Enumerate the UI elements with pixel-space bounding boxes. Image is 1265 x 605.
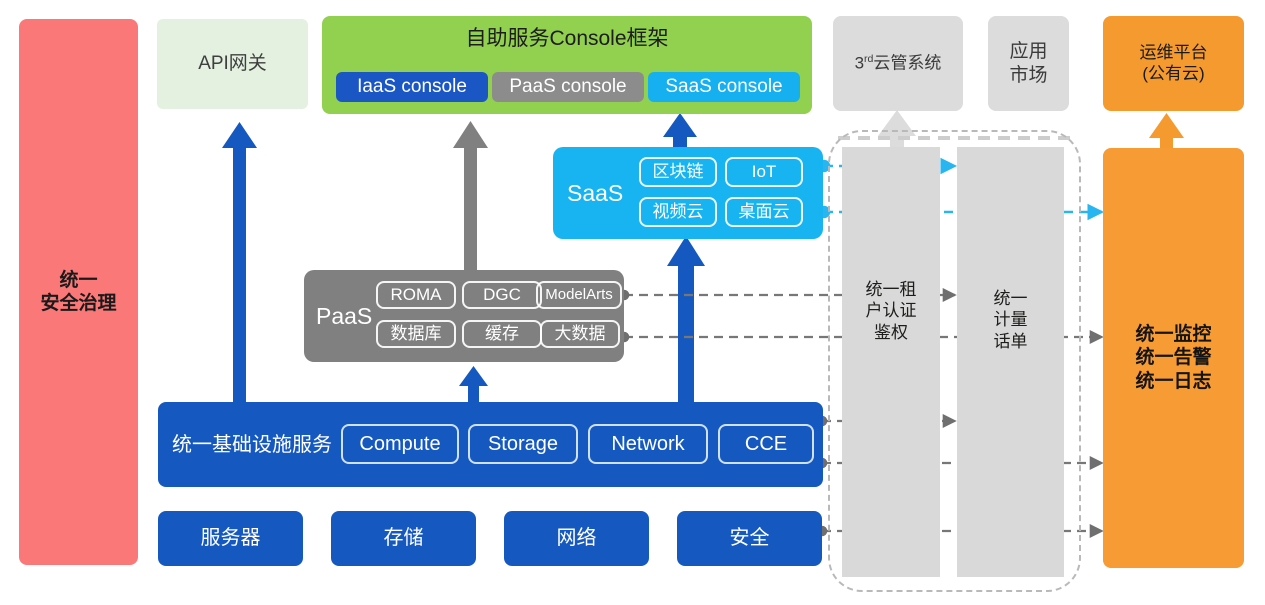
- hardware-server-label: 服务器: [201, 526, 261, 550]
- third-party-cloud-mgmt-label: 3rd云管系统: [855, 53, 942, 74]
- arrow-up-to-ops-platform: [1149, 113, 1184, 150]
- metering-line3: 话单: [957, 331, 1064, 352]
- api-gateway-box[interactable]: API网关: [157, 19, 308, 109]
- ops-platform-line1: 运维平台: [1140, 43, 1208, 64]
- console-frame-title: 自助服务Console框架: [322, 26, 812, 52]
- paas-service-dgc[interactable]: DGC: [462, 281, 542, 309]
- infra-service-cce[interactable]: CCE: [718, 424, 814, 464]
- security-governance-line2: 安全治理: [40, 292, 116, 315]
- third-party-cloud-mgmt-box[interactable]: 3rd云管系统: [833, 16, 963, 111]
- paas-service-roma-label: ROMA: [391, 285, 442, 306]
- hardware-network-box[interactable]: 网络: [504, 511, 649, 566]
- saas-service-desktop-cloud-label: 桌面云: [739, 202, 790, 223]
- paas-console-button[interactable]: PaaS console: [492, 72, 644, 102]
- saas-service-desktop-cloud[interactable]: 桌面云: [725, 197, 803, 227]
- metering-line1: 统一: [957, 288, 1064, 309]
- iaas-console-button[interactable]: IaaS console: [336, 72, 488, 102]
- infra-service-compute[interactable]: Compute: [341, 424, 459, 464]
- unified-infrastructure-label: 统一基础设施服务: [172, 433, 332, 457]
- saas-service-iot-label: IoT: [752, 162, 777, 183]
- paas-service-bigdata[interactable]: 大数据: [540, 320, 620, 348]
- infra-service-compute-label: Compute: [359, 432, 440, 456]
- infra-service-storage-label: Storage: [488, 432, 558, 456]
- arrow-infra-to-apigw: [222, 122, 257, 405]
- ops-platform-box[interactable]: 运维平台 (公有云): [1103, 16, 1244, 111]
- infra-service-network-label: Network: [611, 432, 684, 456]
- unified-infrastructure-bar: 统一基础设施服务 Compute Storage Network CCE: [158, 402, 823, 487]
- architecture-diagram: 统一 安全治理 API网关 自助服务Console框架 IaaS console…: [0, 0, 1265, 605]
- app-market-line1: 应用: [1009, 40, 1047, 63]
- paas-service-database-label: 数据库: [391, 324, 442, 345]
- saas-service-iot[interactable]: IoT: [725, 157, 803, 187]
- hardware-network-label: 网络: [557, 526, 597, 550]
- monitoring-line2: 统一告警: [1135, 346, 1211, 369]
- hardware-security-label: 安全: [730, 526, 770, 550]
- saas-service-video-cloud[interactable]: 视频云: [639, 197, 717, 227]
- paas-service-cache[interactable]: 缓存: [462, 320, 542, 348]
- tenant-auth-line2: 户认证: [842, 300, 940, 321]
- paas-layer-label: PaaS: [316, 302, 372, 330]
- arrow-infra-to-saas: [667, 236, 705, 406]
- iaas-console-label: IaaS console: [357, 75, 467, 98]
- tenant-auth-column: [842, 147, 940, 577]
- hardware-storage-box[interactable]: 存储: [331, 511, 476, 566]
- monitoring-line3: 统一日志: [1135, 370, 1211, 393]
- security-governance-line1: 统一: [59, 269, 97, 292]
- metering-billing-column: [957, 147, 1064, 577]
- monitoring-line1: 统一监控: [1135, 323, 1211, 346]
- ops-platform-line2: (公有云): [1142, 64, 1204, 85]
- paas-service-database[interactable]: 数据库: [376, 320, 456, 348]
- saas-service-blockchain[interactable]: 区块链: [639, 157, 717, 187]
- metering-billing-label: 统一 计量 话单: [957, 288, 1064, 352]
- saas-console-button[interactable]: SaaS console: [648, 72, 800, 102]
- tenant-auth-label: 统一租 户认证 鉴权: [842, 279, 940, 343]
- saas-service-blockchain-label: 区块链: [653, 162, 704, 183]
- arrow-infra-to-paas: [459, 366, 488, 402]
- paas-service-modelarts[interactable]: ModelArts: [536, 281, 622, 309]
- paas-service-dgc-label: DGC: [483, 285, 521, 306]
- app-market-box[interactable]: 应用 市场: [988, 16, 1069, 111]
- saas-console-label: SaaS console: [665, 75, 782, 98]
- hardware-security-box[interactable]: 安全: [677, 511, 822, 566]
- infra-service-cce-label: CCE: [745, 432, 787, 456]
- paas-console-label: PaaS console: [509, 75, 626, 98]
- infra-service-network[interactable]: Network: [588, 424, 708, 464]
- arrow-paas-to-console: [453, 121, 488, 270]
- unified-security-governance-panel: 统一 安全治理: [19, 19, 138, 565]
- metering-line2: 计量: [957, 309, 1064, 330]
- saas-service-video-cloud-label: 视频云: [653, 202, 704, 223]
- self-service-console-frame: 自助服务Console框架 IaaS console PaaS console …: [322, 16, 812, 114]
- saas-layer: SaaS 区块链 IoT 视频云 桌面云: [553, 147, 823, 239]
- hardware-server-box[interactable]: 服务器: [158, 511, 303, 566]
- paas-service-cache-label: 缓存: [485, 324, 519, 345]
- api-gateway-label: API网关: [198, 52, 267, 75]
- infra-service-storage[interactable]: Storage: [468, 424, 578, 464]
- saas-layer-label: SaaS: [567, 179, 623, 207]
- paas-layer: PaaS ROMA DGC ModelArts 数据库 缓存 大数据: [304, 270, 624, 362]
- tenant-auth-line1: 统一租: [842, 279, 940, 300]
- app-market-line2: 市场: [1009, 64, 1047, 87]
- hardware-storage-label: 存储: [384, 526, 424, 550]
- paas-service-modelarts-label: ModelArts: [545, 286, 613, 304]
- unified-monitoring-panel: 统一监控 统一告警 统一日志: [1103, 148, 1244, 568]
- paas-service-roma[interactable]: ROMA: [376, 281, 456, 309]
- tenant-auth-line3: 鉴权: [842, 322, 940, 343]
- paas-service-bigdata-label: 大数据: [555, 324, 606, 345]
